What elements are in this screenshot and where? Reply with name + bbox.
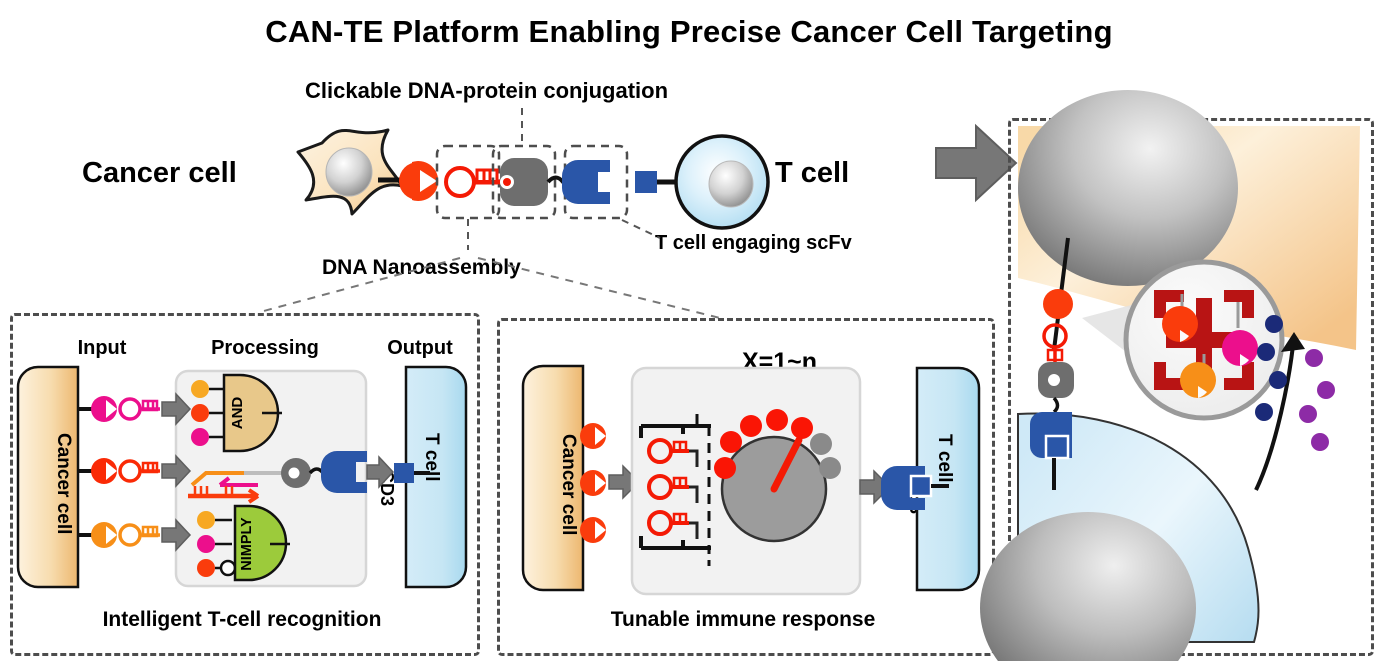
- panel-c-graphics: [1008, 118, 1368, 650]
- cd3-square-top: [635, 171, 657, 193]
- scfv-body: [562, 160, 610, 204]
- right-arrow-icon: [936, 126, 1016, 200]
- panel-a-graphics: Cancer cell T cell: [10, 313, 474, 613]
- cancer-cell-bar-label: Cancer cell: [53, 433, 74, 534]
- and-gate-label: AND: [229, 397, 246, 430]
- t-cell-bar-b-label: T cell: [934, 434, 955, 483]
- cd3-square-panel-b: [911, 476, 931, 496]
- cancer-nucleus: [326, 148, 372, 196]
- cancer-cell-nucleus: [1018, 90, 1238, 286]
- dna-hairpin-loop: [446, 168, 474, 196]
- top-scheme-graphics: [0, 0, 1010, 320]
- input-aptamer-pink: [78, 396, 160, 422]
- t-cell-nucleus: [709, 161, 753, 207]
- inset-contents: [1160, 294, 1258, 398]
- granules-purple: [1299, 349, 1335, 451]
- nimply-gate-label: NIMPLY: [239, 517, 255, 571]
- leader-scfv: [622, 220, 660, 238]
- cd3-square-panel-a: [394, 463, 414, 483]
- receptors-red: [580, 423, 606, 543]
- leader-to-panel-b: [478, 258, 720, 318]
- cancer-cell-bar-b-label: Cancer cell: [558, 434, 579, 535]
- panel-b-graphics: Cancer cell T cell: [497, 318, 989, 618]
- input-aptamer-orange: [78, 522, 160, 548]
- input-aptamer-red: [78, 458, 160, 484]
- inversion-bubble: [221, 561, 235, 575]
- synapse-antigen-red: [1043, 289, 1073, 319]
- leader-to-panel-a: [260, 258, 460, 312]
- arrow-output: [367, 457, 393, 487]
